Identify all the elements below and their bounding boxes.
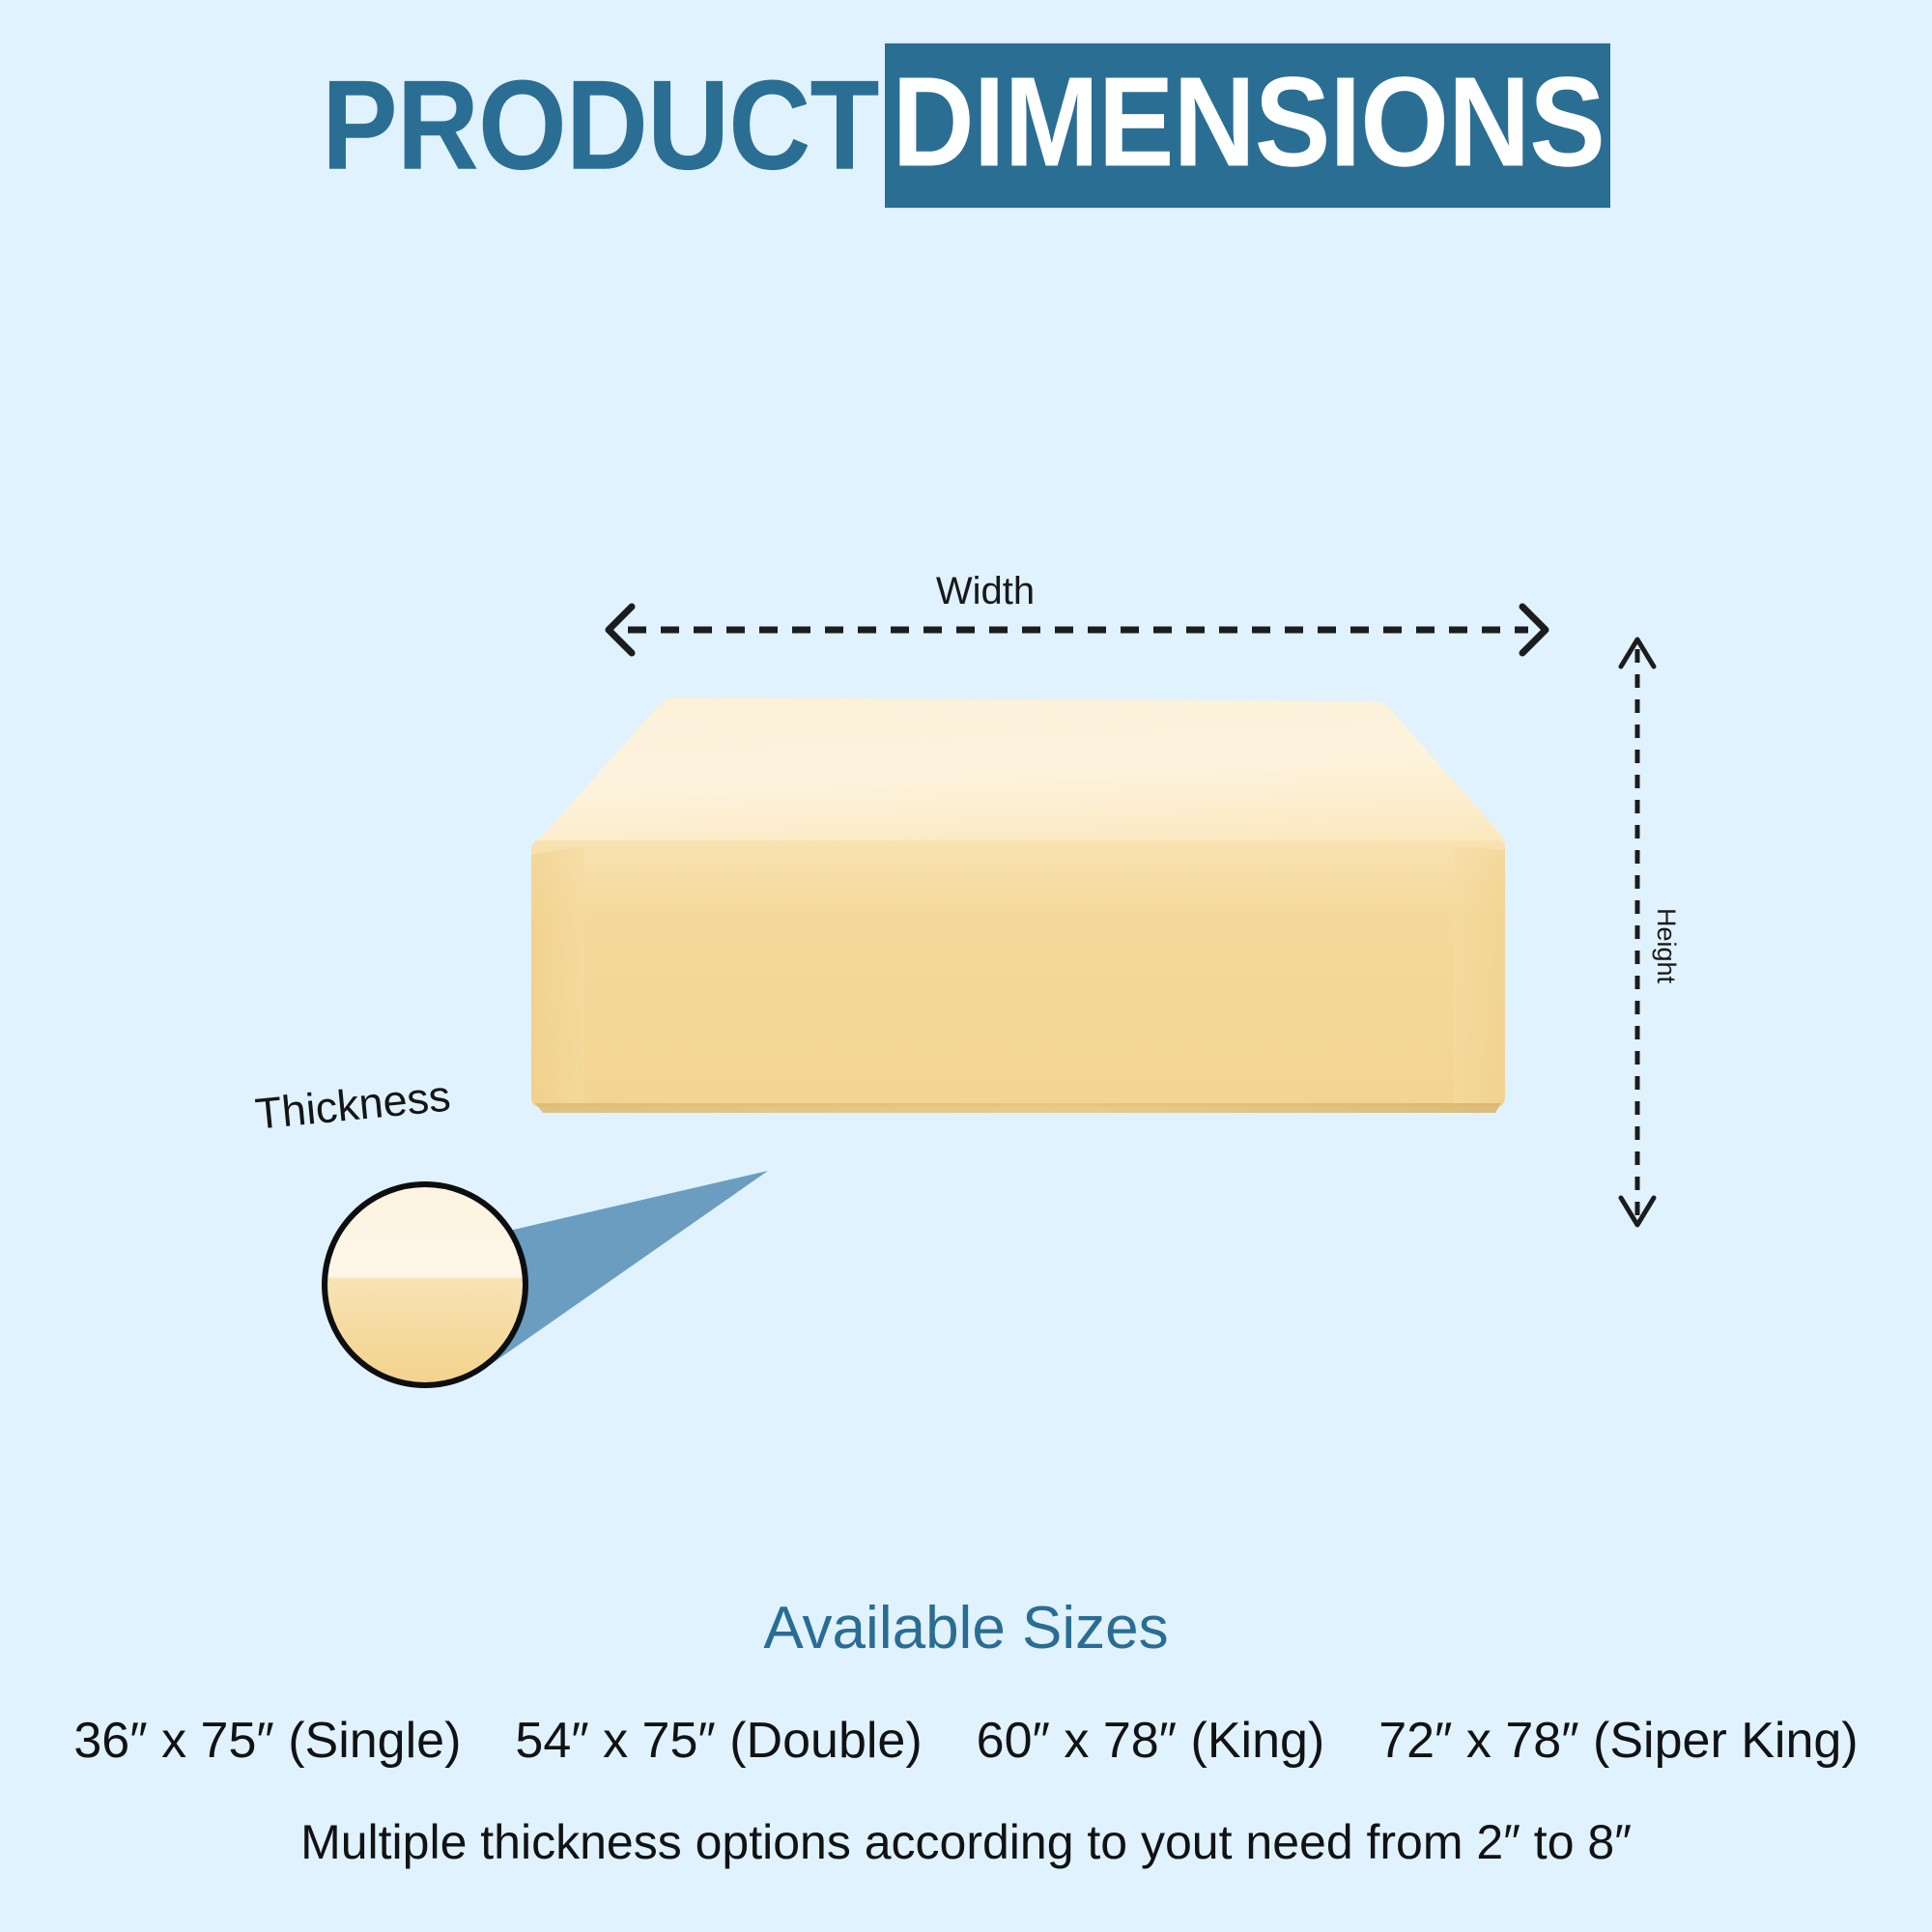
height-dimension-label: Height bbox=[1651, 908, 1681, 983]
callout-magnifier-circle bbox=[325, 1184, 526, 1385]
available-sizes-list: 36″ x 75″ (Single) 54″ x 75″ (Double) 60… bbox=[0, 1712, 1932, 1770]
page-title: PRODUCT DIMENSIONS bbox=[0, 58, 1932, 193]
thickness-callout bbox=[290, 1150, 831, 1439]
available-sizes-heading: Available Sizes bbox=[0, 1594, 1932, 1662]
size-option-single: 36″ x 75″ (Single) bbox=[73, 1712, 461, 1770]
width-dimension-arrow bbox=[599, 599, 1555, 657]
size-option-king: 60″ x 78″ (King) bbox=[977, 1712, 1325, 1770]
title-word-dimensions: DIMENSIONS bbox=[885, 43, 1610, 208]
size-option-double: 54″ x 75″ (Double) bbox=[515, 1712, 922, 1770]
thickness-options-note: Multiple thickness options according to … bbox=[0, 1814, 1932, 1870]
foam-block-illustration bbox=[386, 657, 1594, 1140]
title-word-product: PRODUCT bbox=[322, 62, 884, 189]
infographic-page: PRODUCT DIMENSIONS Width Height bbox=[0, 0, 1932, 1932]
size-option-super-king: 72″ x 78″ (Siper King) bbox=[1378, 1712, 1858, 1770]
